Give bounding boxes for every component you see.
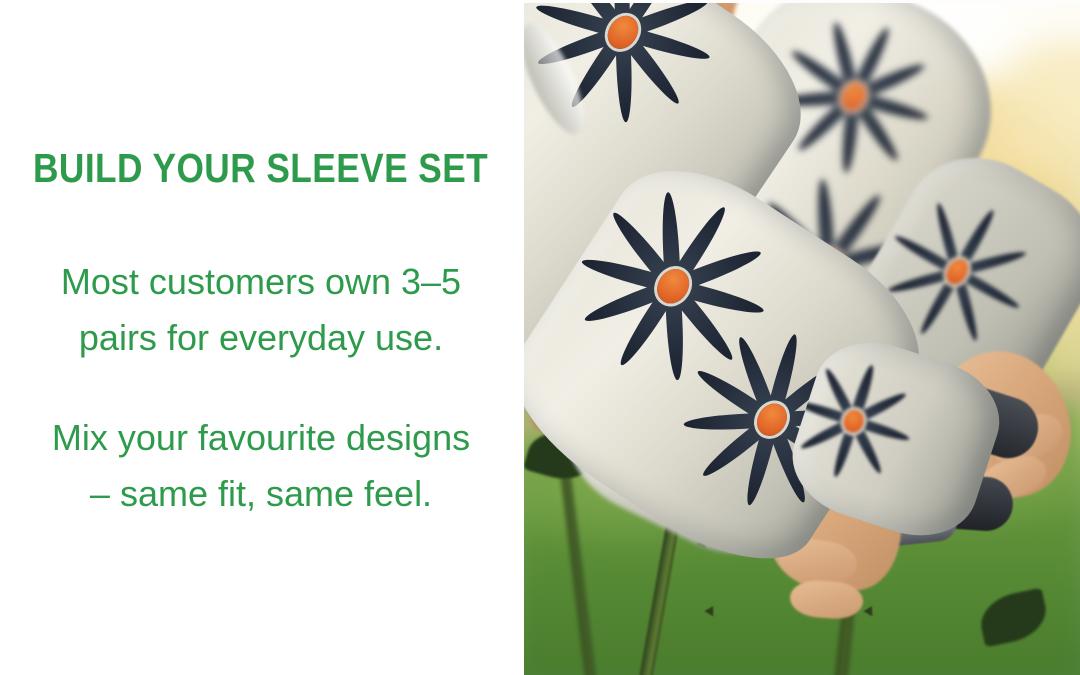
paragraph-line: Mix your favourite designs (52, 410, 470, 466)
paragraph-mix-designs: Mix your favourite designs – same fit, s… (52, 410, 470, 522)
paragraph-line: pairs for everyday use. (61, 310, 461, 366)
photo-left-edge (522, 0, 524, 675)
promo-banner: BUILD YOUR SLEEVE SET Most customers own… (0, 0, 1080, 675)
paragraph-ownership-stat: Most customers own 3–5 pairs for everyda… (61, 254, 461, 366)
page-title: BUILD YOUR SLEEVE SET (33, 147, 488, 190)
paragraph-line: Most customers own 3–5 (61, 254, 461, 310)
text-panel: BUILD YOUR SLEEVE SET Most customers own… (0, 0, 522, 675)
photo-top-edge (522, 0, 1080, 3)
lifestyle-photo (522, 0, 1080, 675)
paragraph-line: – same fit, same feel. (52, 466, 470, 522)
